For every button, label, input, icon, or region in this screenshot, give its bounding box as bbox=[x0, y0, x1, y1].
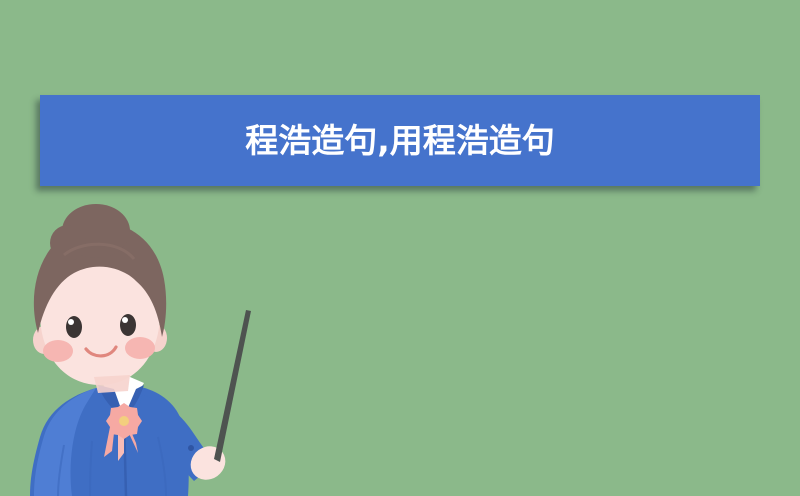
title-banner: 程浩造句,用程浩造句 bbox=[40, 95, 760, 186]
blush-right bbox=[125, 337, 155, 359]
neck bbox=[94, 375, 130, 393]
eye-right bbox=[120, 314, 136, 336]
body-group bbox=[30, 377, 232, 496]
sleeve-button-1 bbox=[188, 445, 194, 451]
head-group bbox=[33, 204, 167, 385]
eye-left bbox=[66, 316, 82, 338]
eye-right-highlight bbox=[122, 317, 128, 323]
teacher-illustration bbox=[18, 205, 258, 496]
hair-bun-side bbox=[50, 225, 86, 261]
eye-left-highlight bbox=[68, 319, 74, 325]
pointer-stick bbox=[214, 310, 251, 462]
page-title: 程浩造句,用程浩造句 bbox=[245, 124, 555, 157]
badge-center bbox=[119, 416, 129, 426]
poster-canvas: 程浩造句,用程浩造句 bbox=[0, 0, 800, 496]
blush-left bbox=[43, 340, 73, 362]
teacher-figure-svg bbox=[18, 205, 258, 496]
